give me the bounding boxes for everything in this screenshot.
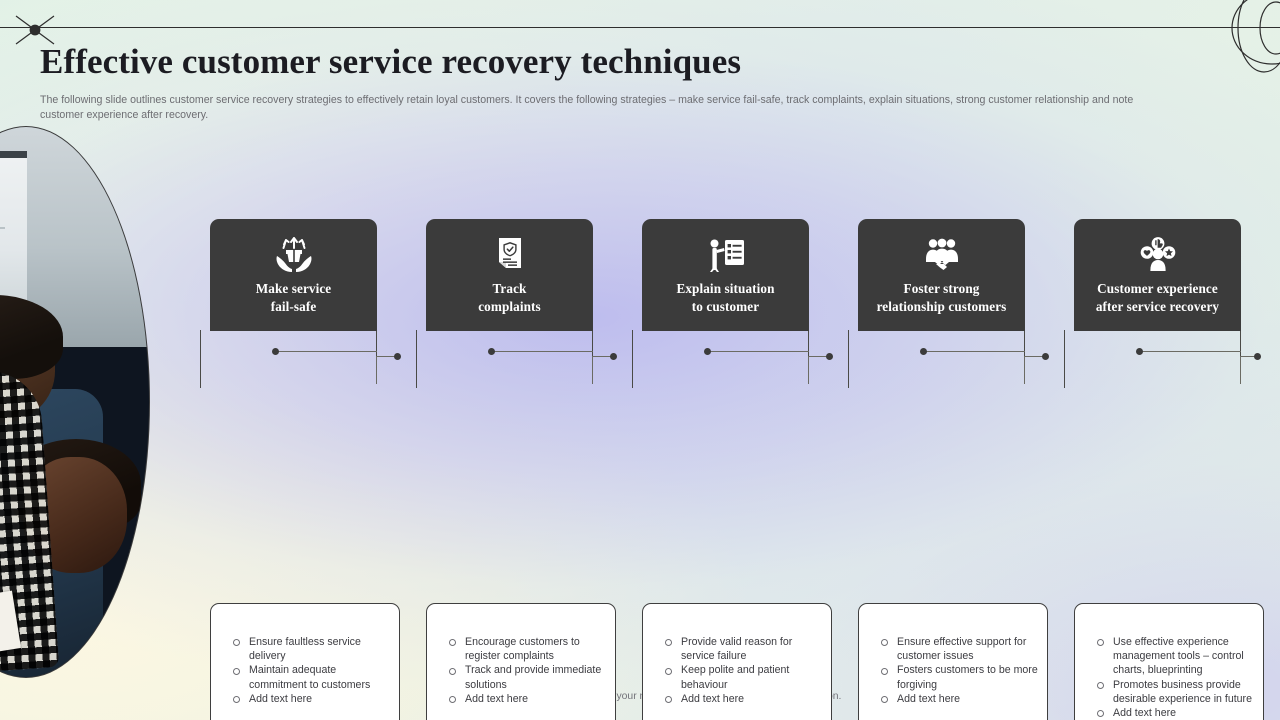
list-item: Add text here — [223, 692, 391, 706]
connector-dot — [920, 348, 927, 355]
card-title-line2: fail-safe — [271, 299, 317, 314]
connector-elbow-vertical — [592, 356, 593, 384]
card-header: Make service fail-safe — [210, 219, 377, 331]
list-item: Track and provide immediate solutions — [439, 663, 607, 691]
card-bullet-list: Provide valid reason for service failure… — [655, 635, 823, 706]
slide-canvas: Effective customer service recovery tech… — [0, 0, 1280, 720]
card-title-line1: Make service — [256, 281, 332, 296]
connector-elbow-vertical — [1024, 356, 1025, 384]
connector-line — [924, 351, 1025, 352]
card-track-complaints[interactable]: Track complaints Encourage customers to … — [426, 219, 593, 331]
list-item: Add text here — [1087, 706, 1255, 720]
connector-rail-left — [848, 330, 849, 388]
card-explain-situation[interactable]: Explain situation to customer Provide va… — [642, 219, 809, 331]
document-shield-check-icon — [426, 234, 593, 276]
list-item: Keep polite and patient behaviour — [655, 663, 823, 691]
card-title-line1: Track — [493, 281, 527, 296]
card-customer-experience[interactable]: Customer experience after service recove… — [1074, 219, 1241, 331]
card-title: Foster strong relationship customers — [858, 276, 1025, 315]
card-title-line2: complaints — [478, 299, 541, 314]
card-title-line2: after service recovery — [1096, 299, 1219, 314]
list-item: Provide valid reason for service failure — [655, 635, 823, 663]
connector-rail-left — [416, 330, 417, 388]
connector-dot — [1136, 348, 1143, 355]
list-item: Ensure faultless service delivery — [223, 635, 391, 663]
card-title: Explain situation to customer — [642, 276, 809, 315]
connector-dot — [272, 348, 279, 355]
card-bullet-list: Use effective experience management tool… — [1087, 635, 1255, 720]
connector-rail-right — [808, 330, 809, 356]
connector-rail-right — [376, 330, 377, 356]
technique-cards: Make service fail-safe Ensure faultless … — [0, 0, 1280, 720]
list-item: Use effective experience management tool… — [1087, 635, 1255, 678]
card-foster-strong-relationship[interactable]: Foster strong relationship customers Ens… — [858, 219, 1025, 331]
list-item: Maintain adequate commitment to customer… — [223, 663, 391, 691]
list-item: Promotes business provide desirable expe… — [1087, 678, 1255, 706]
connector-rail-left — [1064, 330, 1065, 388]
connector-dot — [1254, 353, 1261, 360]
card-header: Track complaints — [426, 219, 593, 331]
connector-dot — [1042, 353, 1049, 360]
connector-rail-right — [1240, 330, 1241, 356]
connector-dot — [610, 353, 617, 360]
connector-elbow-vertical — [1240, 356, 1241, 384]
list-item: Fosters customers to be more forgiving — [871, 663, 1039, 691]
card-body: Ensure faultless service delivery Mainta… — [210, 603, 400, 720]
connector-line — [1140, 351, 1241, 352]
card-bullet-list: Encourage customers to register complain… — [439, 635, 607, 706]
card-header: Foster strong relationship customers — [858, 219, 1025, 331]
card-title-line2: relationship customers — [877, 299, 1007, 314]
people-handshake-icon — [858, 234, 1025, 276]
card-header: Explain situation to customer — [642, 219, 809, 331]
connector-elbow-vertical — [808, 356, 809, 384]
connector-rail-left — [200, 330, 201, 388]
connector-dot — [704, 348, 711, 355]
person-thumbsup-heart-star-icon — [1074, 234, 1241, 276]
connector-dot — [394, 353, 401, 360]
card-body: Provide valid reason for service failure… — [642, 603, 832, 720]
list-item: Ensure effective support for customer is… — [871, 635, 1039, 663]
card-title: Track complaints — [426, 276, 593, 315]
card-title-line2: to customer — [692, 299, 759, 314]
card-title-line1: Foster strong — [904, 281, 980, 296]
card-title-line1: Explain situation — [676, 281, 774, 296]
list-item: Add text here — [655, 692, 823, 706]
hands-holding-open-box-arrows-icon — [210, 234, 377, 276]
connector-dot — [488, 348, 495, 355]
list-item: Add text here — [439, 692, 607, 706]
card-bullet-list: Ensure faultless service delivery Mainta… — [223, 635, 391, 706]
connector-elbow-vertical — [376, 356, 377, 384]
card-body: Encourage customers to register complain… — [426, 603, 616, 720]
connector-line — [708, 351, 809, 352]
person-presenting-checklist-board-icon — [642, 234, 809, 276]
connector-rail-right — [592, 330, 593, 356]
card-title-line1: Customer experience — [1097, 281, 1218, 296]
connector-line — [276, 351, 377, 352]
card-body: Ensure effective support for customer is… — [858, 603, 1048, 720]
connector-rail-left — [632, 330, 633, 388]
connector-dot — [826, 353, 833, 360]
list-item: Encourage customers to register complain… — [439, 635, 607, 663]
connector-line — [492, 351, 593, 352]
list-item: Add text here — [871, 692, 1039, 706]
card-body: Use effective experience management tool… — [1074, 603, 1264, 720]
card-make-service-fail-safe[interactable]: Make service fail-safe Ensure faultless … — [210, 219, 377, 331]
connector-rail-right — [1024, 330, 1025, 356]
card-bullet-list: Ensure effective support for customer is… — [871, 635, 1039, 706]
card-title: Customer experience after service recove… — [1074, 276, 1241, 315]
card-header: Customer experience after service recove… — [1074, 219, 1241, 331]
card-title: Make service fail-safe — [210, 276, 377, 315]
